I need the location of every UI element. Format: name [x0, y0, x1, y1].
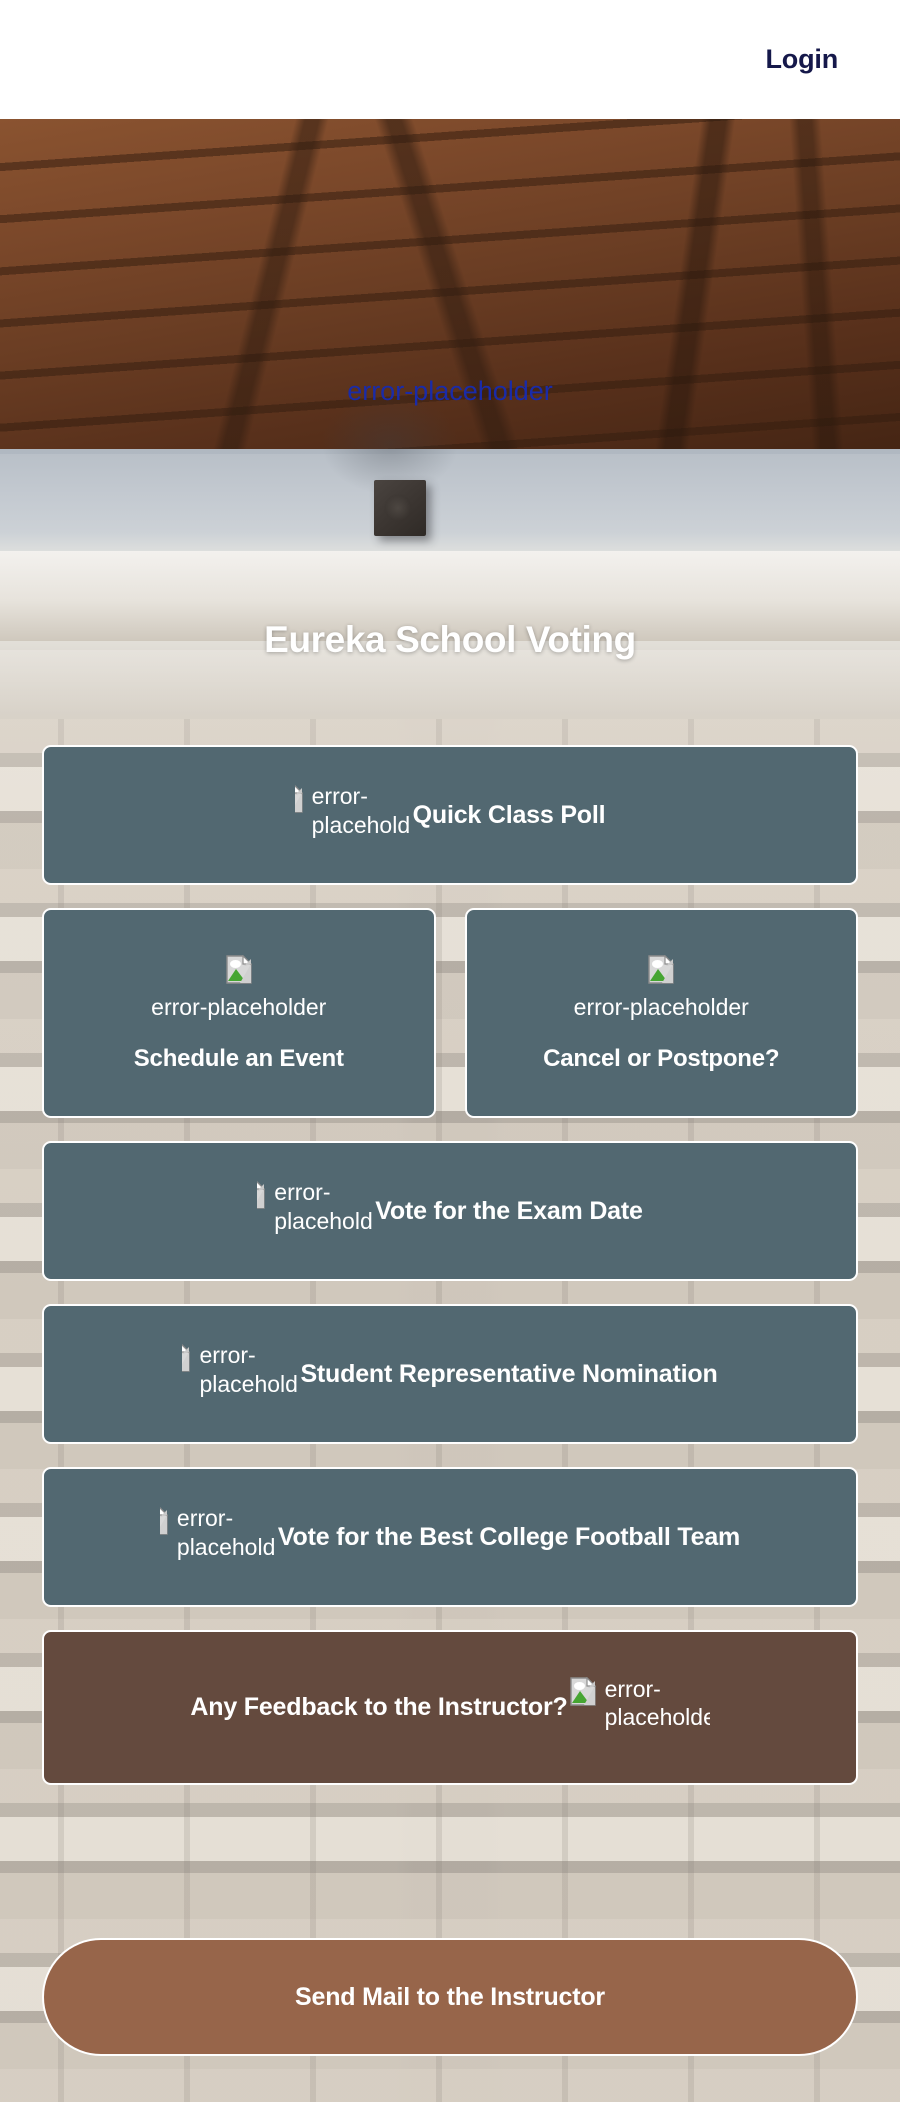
broken-image-placeholder: error-placeholder — [570, 1675, 710, 1741]
card-quick-class-poll[interactable]: error-placeholder Quick Class Poll — [42, 745, 858, 885]
broken-image-alt-text: error-placeholder — [574, 993, 749, 1022]
broken-image-alt-text: error-placeholder — [177, 1504, 276, 1562]
broken-image-icon — [570, 1677, 596, 1706]
broken-image-placeholder: error-placeholder — [160, 1504, 276, 1570]
broken-image-placeholder: error-placeholder — [257, 1178, 373, 1244]
broken-image-icon — [160, 1506, 168, 1535]
card-label: Quick Class Poll — [413, 801, 606, 830]
broken-image-icon — [182, 1343, 190, 1372]
broken-image-placeholder: error-placeholder — [144, 953, 334, 1022]
broken-image-icon — [295, 784, 303, 813]
card-label: Student Representative Nomination — [300, 1360, 717, 1389]
card-label: Vote for the Exam Date — [375, 1197, 642, 1226]
card-row-two-column: error-placeholder Schedule an Event erro… — [42, 908, 858, 1118]
broken-image-icon — [648, 955, 674, 984]
send-mail-to-instructor-button[interactable]: Send Mail to the Instructor — [42, 1938, 858, 2056]
card-label: Any Feedback to the Instructor? — [190, 1693, 567, 1722]
card-schedule-an-event[interactable]: error-placeholder Schedule an Event — [42, 908, 436, 1118]
top-navigation-bar: Login — [0, 0, 900, 119]
broken-image-placeholder: error-placeholder — [566, 953, 756, 1022]
broken-image-alt-text: error-placeholder — [312, 782, 411, 840]
broken-image-alt-text: error-placeholder — [274, 1178, 373, 1236]
send-mail-button-container: Send Mail to the Instructor — [0, 1938, 900, 2056]
card-cancel-or-postpone[interactable]: error-placeholder Cancel or Postpone? — [465, 908, 859, 1118]
broken-image-alt-text: error-placeholder — [199, 1341, 298, 1399]
card-label: Vote for the Best College Football Team — [278, 1523, 740, 1552]
broken-image-placeholder: error-placeholder — [182, 1341, 298, 1407]
broken-image-icon — [257, 1180, 265, 1209]
card-any-feedback-to-instructor[interactable]: Any Feedback to the Instructor? error-pl… — [42, 1630, 858, 1785]
broken-image-placeholder: error-placeholder — [295, 782, 411, 848]
wall-speaker — [374, 480, 426, 536]
card-student-representative-nomination[interactable]: error-placeholder Student Representative… — [42, 1304, 858, 1444]
card-label: Cancel or Postpone? — [543, 1045, 779, 1073]
card-vote-best-college-football-team[interactable]: error-placeholder Vote for the Best Coll… — [42, 1467, 858, 1607]
broken-image-icon — [226, 955, 252, 984]
card-vote-exam-date[interactable]: error-placeholder Vote for the Exam Date — [42, 1141, 858, 1281]
broken-image-alt-text: error-placeholder — [605, 1675, 710, 1733]
login-link[interactable]: Login — [766, 46, 838, 73]
card-label: Schedule an Event — [134, 1045, 344, 1073]
broken-image-alt-text: error-placeholder — [151, 993, 326, 1022]
voting-options-list: error-placeholder Quick Class Poll error… — [0, 745, 900, 1785]
